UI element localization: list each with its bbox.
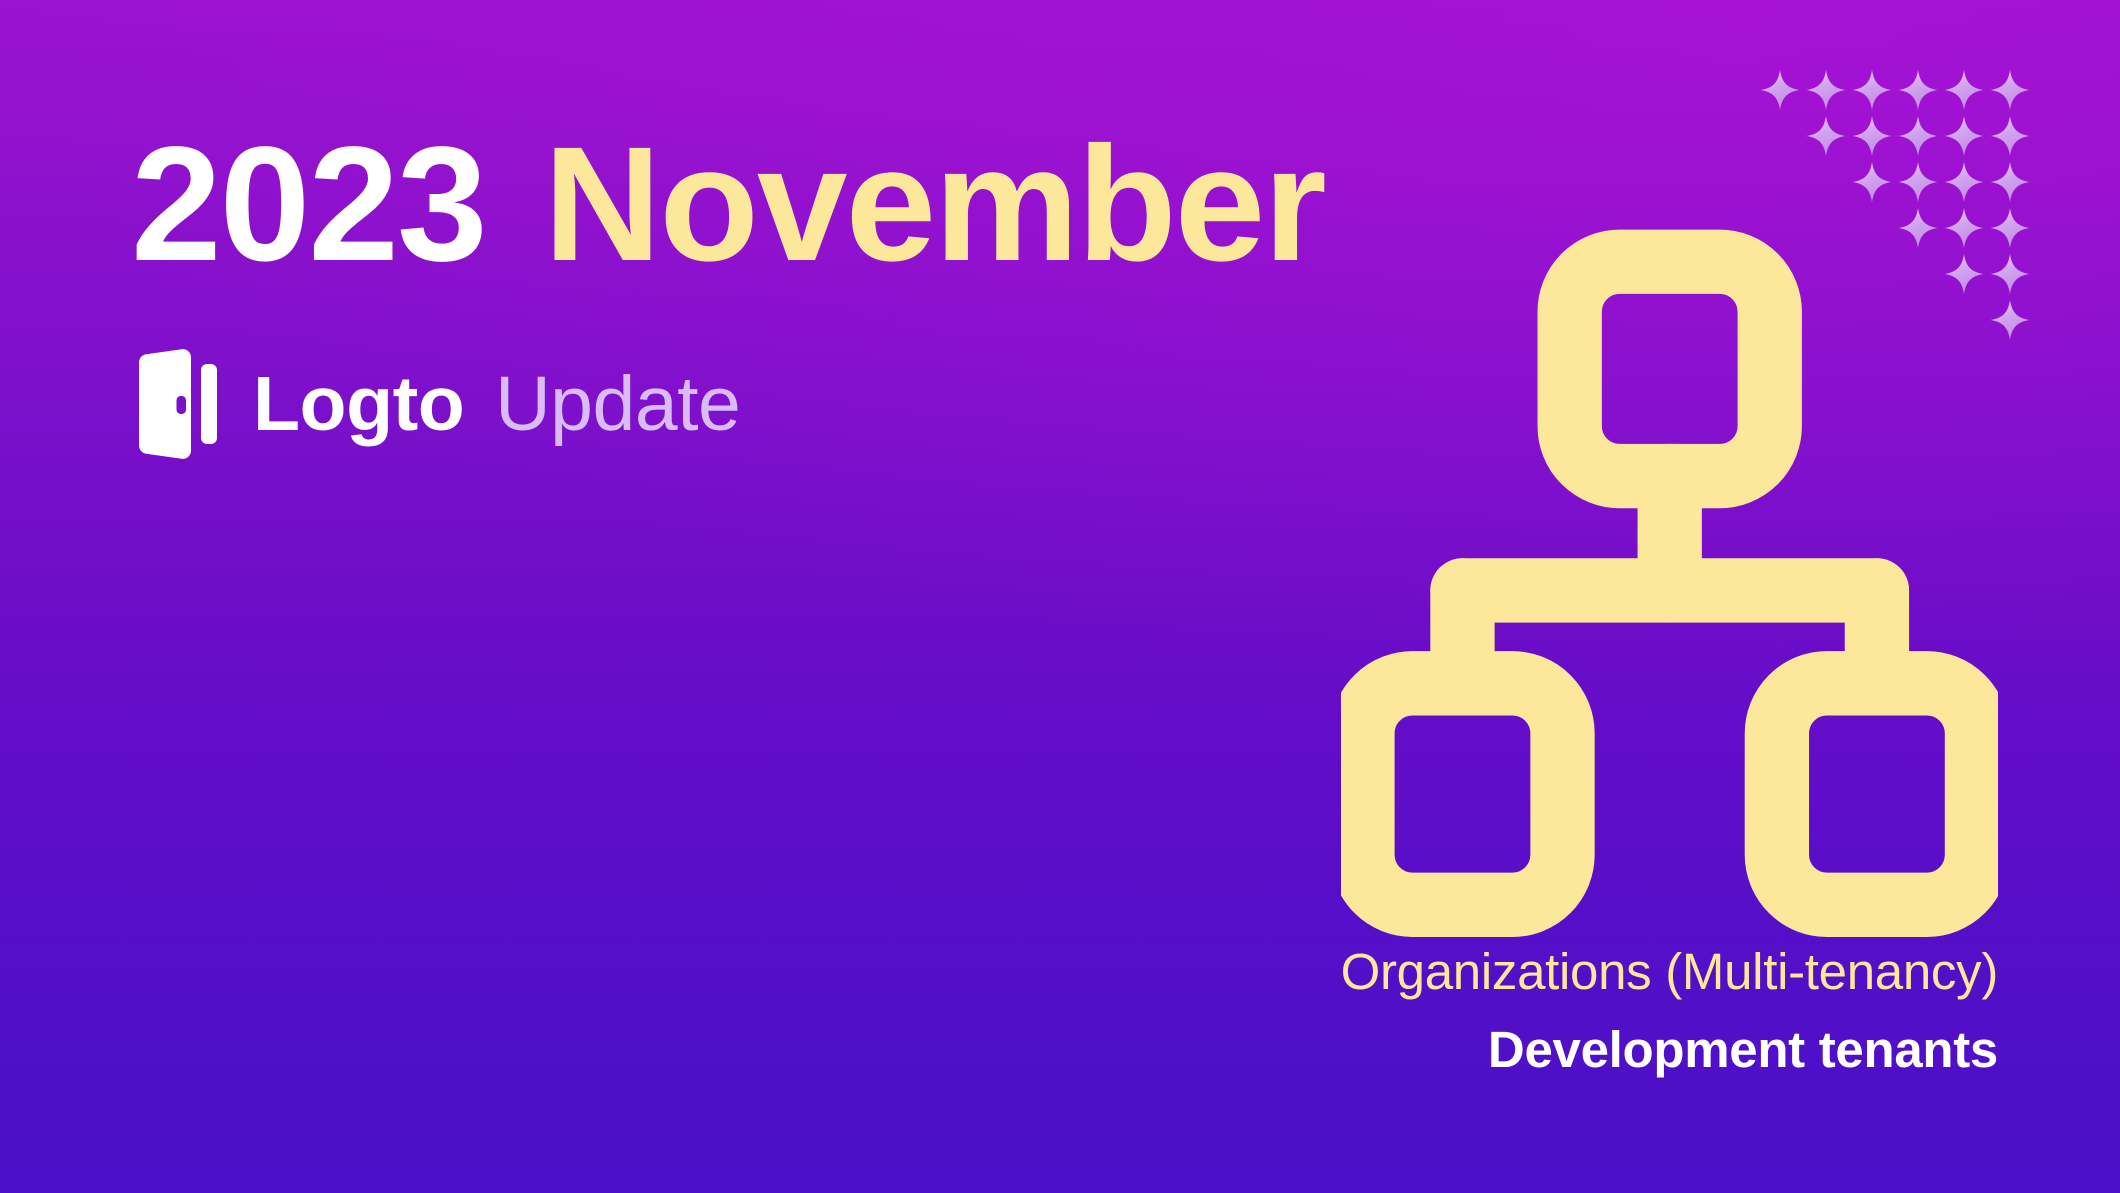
title-month: November [544, 112, 1325, 295]
brand-row: Logto Update [131, 348, 740, 460]
brand-name: Logto [253, 366, 464, 443]
page-title: 2023 November [131, 122, 1325, 285]
brand-suffix: Update [495, 366, 740, 443]
logto-door-icon [131, 348, 217, 460]
feature-list: Organizations (Multi-tenancy) Developmen… [1341, 941, 1998, 1081]
organization-hierarchy-icon [1341, 226, 1998, 941]
release-banner: 2023 November Logto Update [0, 0, 2120, 1193]
feature-item-organizations: Organizations (Multi-tenancy) [1341, 941, 1998, 1003]
title-year: 2023 [131, 112, 486, 295]
feature-item-development-tenants: Development tenants [1341, 1019, 1998, 1081]
feature-highlight-block: Organizations (Multi-tenancy) Developmen… [1341, 226, 1998, 1081]
brand-wordmark: Logto Update [253, 366, 740, 443]
